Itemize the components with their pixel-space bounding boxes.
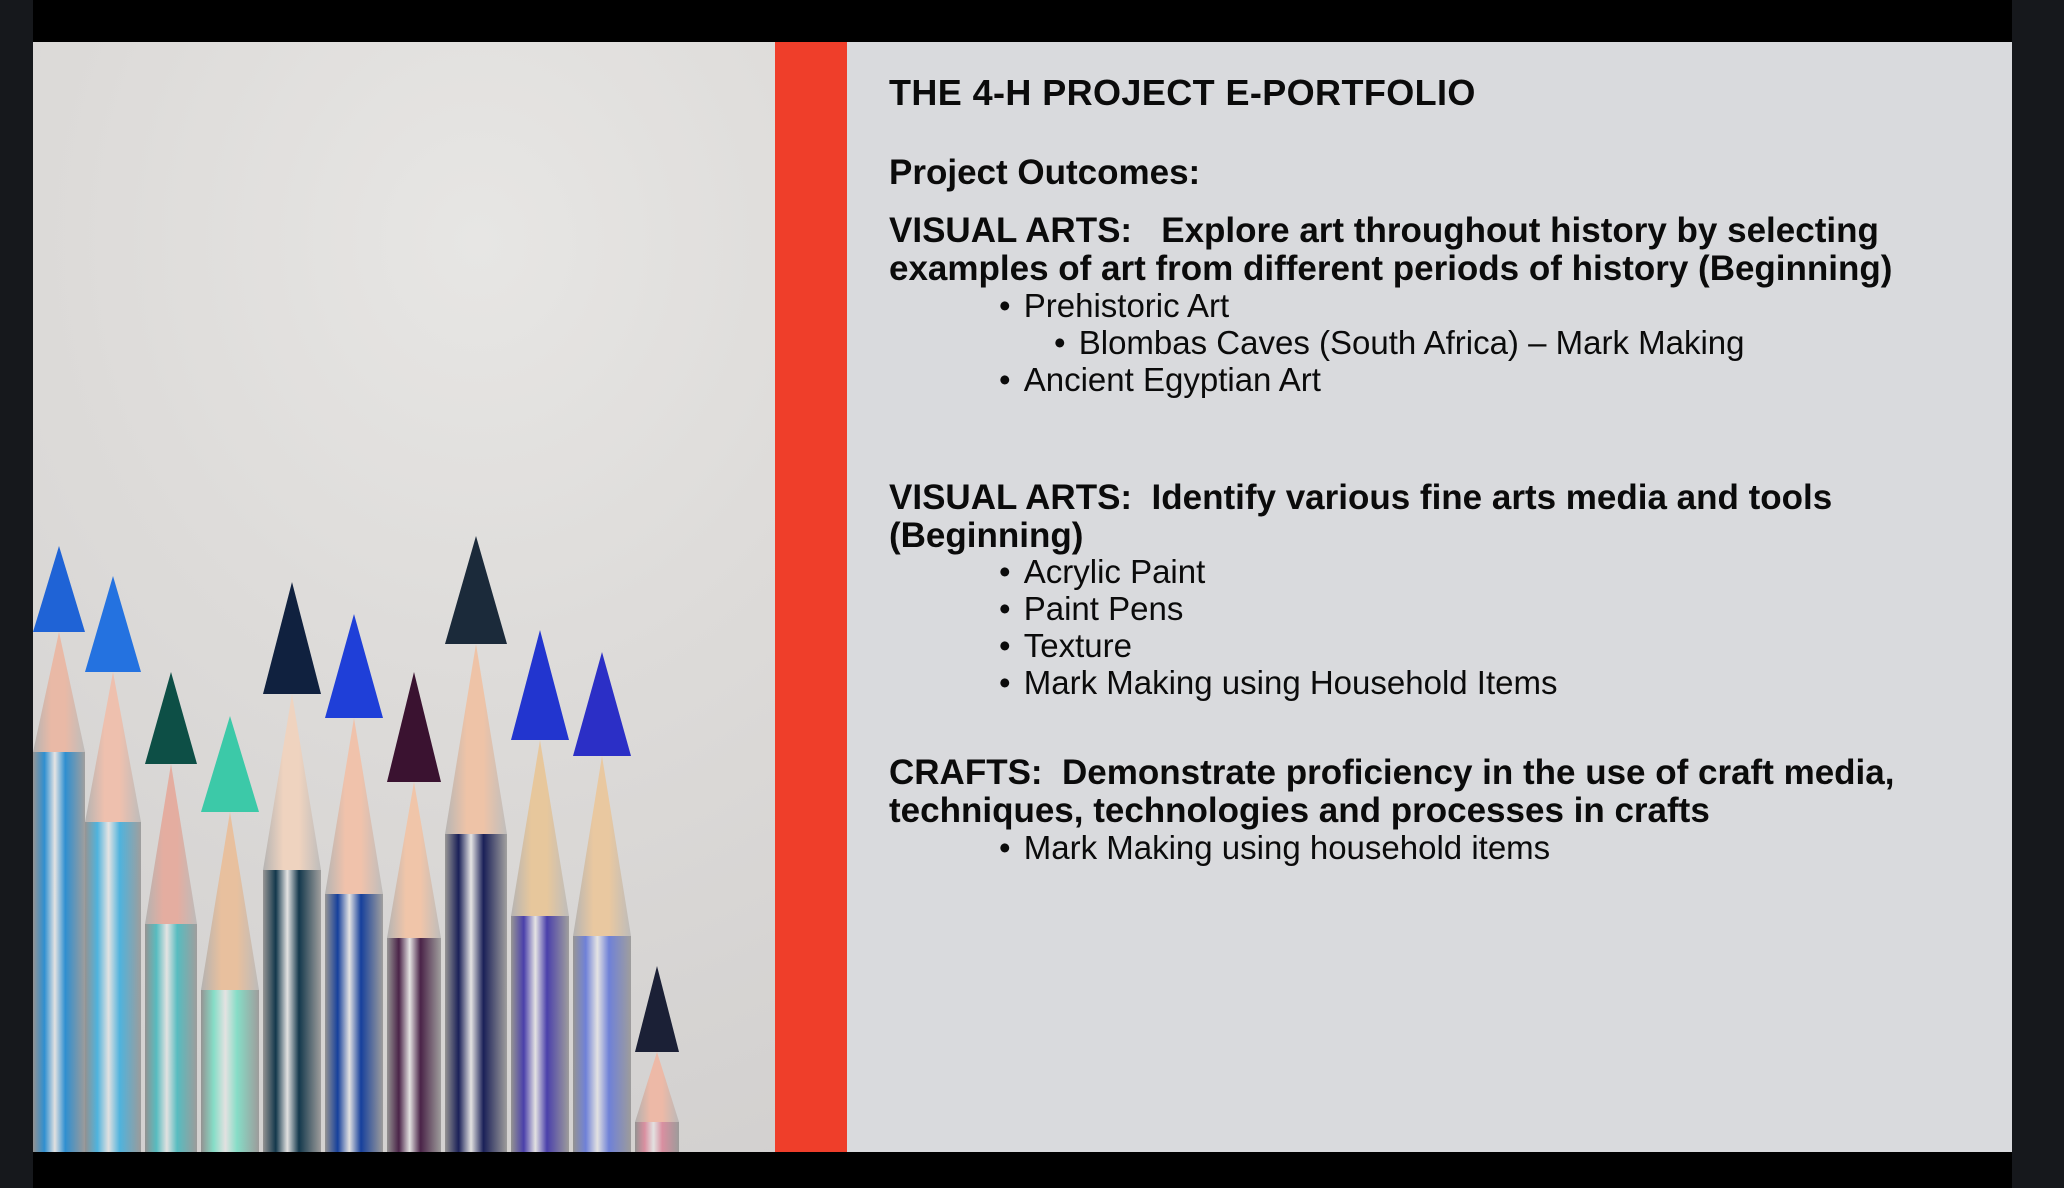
bullet-dot-icon: • (1054, 324, 1079, 361)
pencil-3 (145, 672, 197, 1152)
section-heading: Project Outcomes: (889, 154, 1988, 192)
list-item: • Mark Making using household items (889, 830, 1988, 867)
pencil-10-lead-tip (573, 652, 631, 756)
section-heading: CRAFTS: Demonstrate proficiency in the u… (889, 754, 1988, 830)
section-spacer (889, 708, 1988, 754)
list-item-label: Blombas Caves (South Africa) – Mark Maki… (1079, 324, 1745, 361)
bullet-dot-icon: • (999, 627, 1024, 664)
section-crafts: CRAFTS: Demonstrate proficiency in the u… (889, 754, 1988, 867)
bullet-list: • Acrylic Paint• Paint Pens• Texture• Ma… (889, 554, 1988, 702)
bullet-dot-icon: • (999, 664, 1024, 701)
section-visual-arts-media: VISUAL ARTS: Identify various fine arts … (889, 479, 1988, 702)
pencil-2 (85, 576, 141, 1152)
pencil-11-lead-tip (635, 966, 679, 1052)
slide-text-panel: THE 4-H PROJECT E-PORTFOLIO Project Outc… (847, 42, 2012, 1152)
list-item: • Blombas Caves (South Africa) – Mark Ma… (889, 325, 1988, 362)
outcomes-sections: Project Outcomes:VISUAL ARTS: Explore ar… (889, 154, 1988, 866)
list-item-label: Ancient Egyptian Art (1024, 361, 1321, 398)
pencil-8-lead-tip (445, 536, 507, 644)
pencil-8 (445, 536, 507, 1152)
bullet-list: • Mark Making using household items (889, 830, 1988, 867)
section-project-outcomes: Project Outcomes: (889, 154, 1988, 192)
colored-pencils-photo (33, 42, 775, 1152)
bullet-dot-icon: • (999, 590, 1024, 627)
pencil-10-barrel (573, 936, 631, 1152)
list-item-label: Mark Making using Household Items (1024, 664, 1558, 701)
bullet-dot-icon: • (999, 361, 1024, 398)
pencil-3-wood-cone (145, 764, 197, 924)
pencil-1-lead-tip (33, 546, 85, 632)
bullet-list: • Prehistoric Art• Blombas Caves (South … (889, 288, 1988, 399)
list-item-label: Paint Pens (1024, 590, 1184, 627)
presentation-slide: THE 4-H PROJECT E-PORTFOLIO Project Outc… (33, 42, 2012, 1152)
section-visual-arts-history: VISUAL ARTS: Explore art throughout hist… (889, 212, 1988, 398)
list-item: • Mark Making using Household Items (889, 665, 1988, 702)
pencil-8-barrel (445, 834, 507, 1152)
pencil-6-wood-cone (325, 718, 383, 894)
list-item-label: Mark Making using household items (1024, 829, 1550, 866)
pencil-11-wood-cone (635, 1052, 679, 1122)
accent-divider-bar (775, 42, 847, 1152)
pencil-11-barrel (635, 1122, 679, 1152)
pencil-7-barrel (387, 938, 441, 1152)
section-spacer (889, 198, 1988, 212)
pencil-10 (573, 652, 631, 1152)
pencil-3-barrel (145, 924, 197, 1152)
list-item: • Ancient Egyptian Art (889, 362, 1988, 399)
pencil-2-lead-tip (85, 576, 141, 672)
pencil-8-wood-cone (445, 644, 507, 834)
pencil-group (33, 42, 775, 1152)
pencil-7 (387, 672, 441, 1152)
pencil-6 (325, 614, 383, 1152)
section-heading: VISUAL ARTS: Explore art throughout hist… (889, 212, 1988, 288)
pencil-5-lead-tip (263, 582, 321, 694)
pencil-11 (635, 966, 679, 1152)
pencil-1-barrel (33, 752, 85, 1152)
pencil-5 (263, 582, 321, 1152)
pencil-7-lead-tip (387, 672, 441, 782)
pencil-4-lead-tip (201, 716, 259, 812)
list-item: • Paint Pens (889, 591, 1988, 628)
list-item: • Acrylic Paint (889, 554, 1988, 591)
section-spacer (889, 405, 1988, 479)
list-item: • Prehistoric Art (889, 288, 1988, 325)
pencil-1 (33, 546, 85, 1152)
pencil-9-barrel (511, 916, 569, 1152)
bullet-dot-icon: • (999, 553, 1024, 590)
section-heading: VISUAL ARTS: Identify various fine arts … (889, 479, 1988, 555)
list-item-label: Acrylic Paint (1024, 553, 1206, 590)
list-item: • Texture (889, 628, 1988, 665)
pencil-4-barrel (201, 990, 259, 1152)
pencil-10-wood-cone (573, 756, 631, 936)
pencil-9-wood-cone (511, 740, 569, 916)
pencil-5-wood-cone (263, 694, 321, 870)
pencil-1-wood-cone (33, 632, 85, 752)
pencil-2-barrel (85, 822, 141, 1152)
list-item-label: Prehistoric Art (1024, 287, 1229, 324)
pencil-9-lead-tip (511, 630, 569, 740)
bullet-dot-icon: • (999, 829, 1024, 866)
pencil-7-wood-cone (387, 782, 441, 938)
pencil-9 (511, 630, 569, 1152)
pencil-4 (201, 716, 259, 1152)
page-title: THE 4-H PROJECT E-PORTFOLIO (889, 72, 1988, 114)
pencil-6-lead-tip (325, 614, 383, 718)
list-item-label: Texture (1024, 627, 1132, 664)
pencil-3-lead-tip (145, 672, 197, 764)
bullet-dot-icon: • (999, 287, 1024, 324)
pencil-5-barrel (263, 870, 321, 1152)
pencil-2-wood-cone (85, 672, 141, 822)
slide-viewer: THE 4-H PROJECT E-PORTFOLIO Project Outc… (0, 0, 2064, 1188)
pencil-6-barrel (325, 894, 383, 1152)
pencil-4-wood-cone (201, 812, 259, 990)
